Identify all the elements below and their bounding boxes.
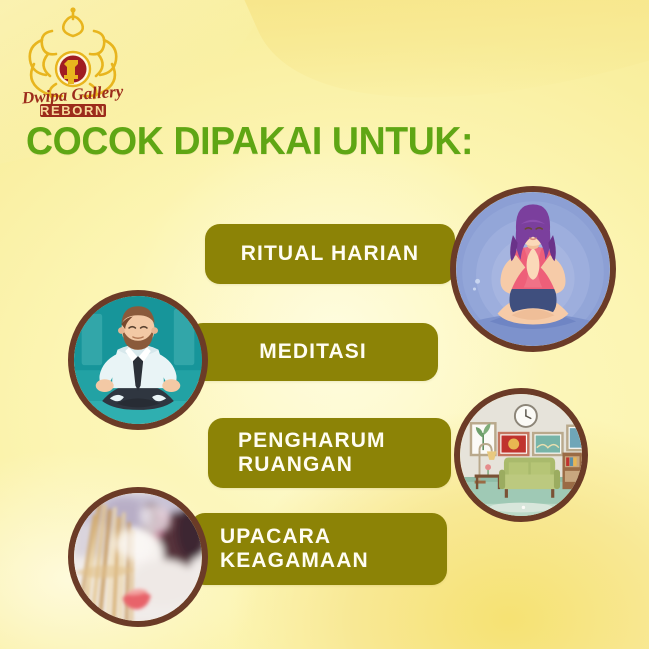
- poster-canvas: Dwipa Gallery REBORN COCOK DIPAKAI UNTUK…: [0, 0, 649, 649]
- feature-pill-label: MEDITASI: [243, 340, 383, 364]
- image-inner: [460, 394, 582, 516]
- image-woman-meditating-lotus-illustration: [450, 186, 616, 352]
- feature-pill-label-line1: UPACARA: [220, 525, 331, 548]
- feature-pill-label-line1: PENGHARUM: [238, 429, 386, 452]
- image-businessman-meditating-illustration: [68, 290, 208, 430]
- feature-pill-ritual-harian[interactable]: RITUAL HARIAN: [205, 224, 455, 284]
- brand-logo: Dwipa Gallery REBORN: [8, 6, 138, 118]
- feature-pill-label: RITUAL HARIAN: [225, 242, 435, 266]
- feature-pill-label-line2: KEAGAMAAN: [220, 549, 369, 572]
- feature-pill-upacara-keagamaan[interactable]: UPACARA KEAGAMAAN: [190, 513, 447, 585]
- background-swoosh-top-right: [204, 0, 649, 211]
- image-living-room-interior-illustration: [454, 388, 588, 522]
- feature-pill-meditasi[interactable]: MEDITASI: [188, 323, 438, 381]
- image-inner: [74, 296, 202, 424]
- feature-pill-pengharum-ruangan[interactable]: PENGHARUM RUANGAN: [208, 418, 451, 488]
- feature-pill-label-line2: RUANGAN: [238, 453, 353, 476]
- image-burning-incense-sticks-photo: [68, 487, 208, 627]
- image-inner: [74, 493, 202, 621]
- svg-text:REBORN: REBORN: [40, 103, 106, 118]
- page-title: COCOK DIPAKAI UNTUK:: [26, 121, 473, 163]
- feature-pill-label: PENGHARUM RUANGAN: [208, 429, 451, 478]
- feature-pill-label: UPACARA KEAGAMAAN: [190, 525, 447, 574]
- image-inner: [456, 192, 610, 346]
